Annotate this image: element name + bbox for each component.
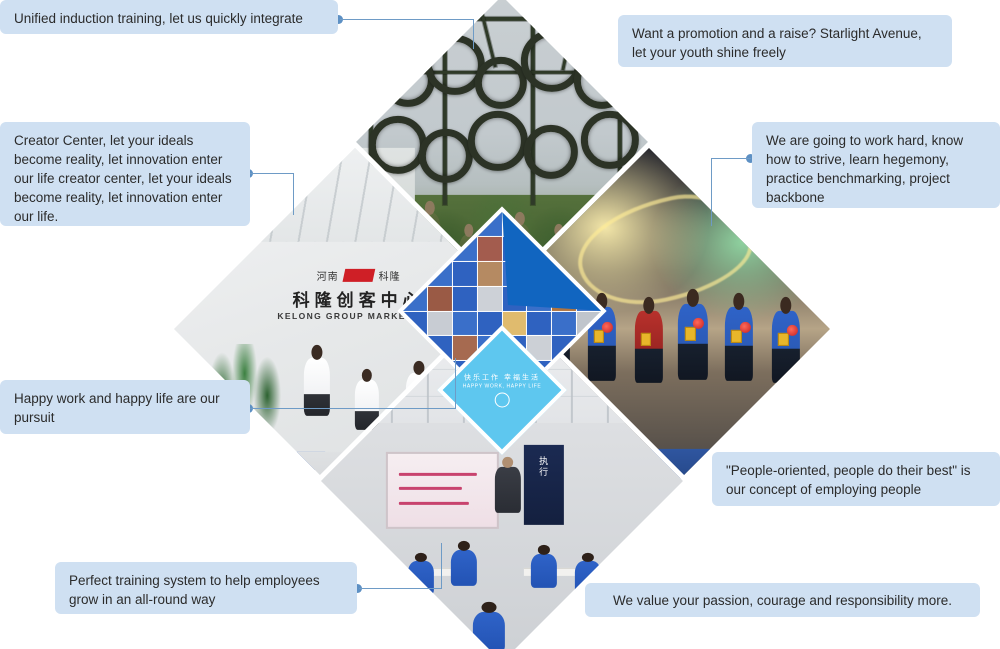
- callout-passion-courage[interactable]: We value your passion, courage and respo…: [585, 583, 980, 617]
- speaker-person: [495, 467, 521, 513]
- stage-banner: 执行: [524, 445, 564, 525]
- callout-promotion-raise[interactable]: Want a promotion and a raise? Starlight …: [618, 15, 952, 67]
- callout-training-system[interactable]: Perfect training system to help employee…: [55, 562, 357, 614]
- presentation-screen: [386, 452, 499, 528]
- badge-text-cn: 快乐工作 幸福生活: [463, 373, 542, 383]
- callout-induction-training[interactable]: Unified induction training, let us quick…: [0, 0, 338, 34]
- sign-brand-cn2: 科隆: [379, 267, 401, 282]
- badge-seal-icon: [495, 393, 510, 408]
- callout-text: Perfect training system to help employee…: [69, 573, 320, 607]
- callout-text: Want a promotion and a raise? Starlight …: [632, 26, 922, 60]
- sign-brand-cn: 河南: [317, 267, 339, 282]
- badge-text-en: HAPPY WORK, HAPPY LIFE: [463, 384, 542, 390]
- callout-people-oriented[interactable]: "People-oriented, people do their best" …: [712, 452, 1000, 506]
- callout-text: Happy work and happy life are our pursui…: [14, 391, 220, 425]
- callout-text: "People-oriented, people do their best" …: [726, 463, 971, 497]
- callout-text: Creator Center, let your ideals become r…: [14, 133, 232, 224]
- callout-text: Unified induction training, let us quick…: [14, 11, 303, 26]
- banner-text: 执行: [537, 456, 550, 478]
- callout-text: We are going to work hard, know how to s…: [766, 133, 963, 205]
- diagram-canvas: 河南 科隆 科隆创客中心 KELONG GROUP MARKER HUB: [0, 0, 1000, 649]
- callout-work-hard[interactable]: We are going to work hard, know how to s…: [752, 122, 1000, 208]
- kelong-logo-mark: [342, 268, 375, 281]
- callout-happy-work[interactable]: Happy work and happy life are our pursui…: [0, 380, 250, 434]
- callout-text: We value your passion, courage and respo…: [613, 591, 952, 610]
- callout-creator-center[interactable]: Creator Center, let your ideals become r…: [0, 122, 250, 226]
